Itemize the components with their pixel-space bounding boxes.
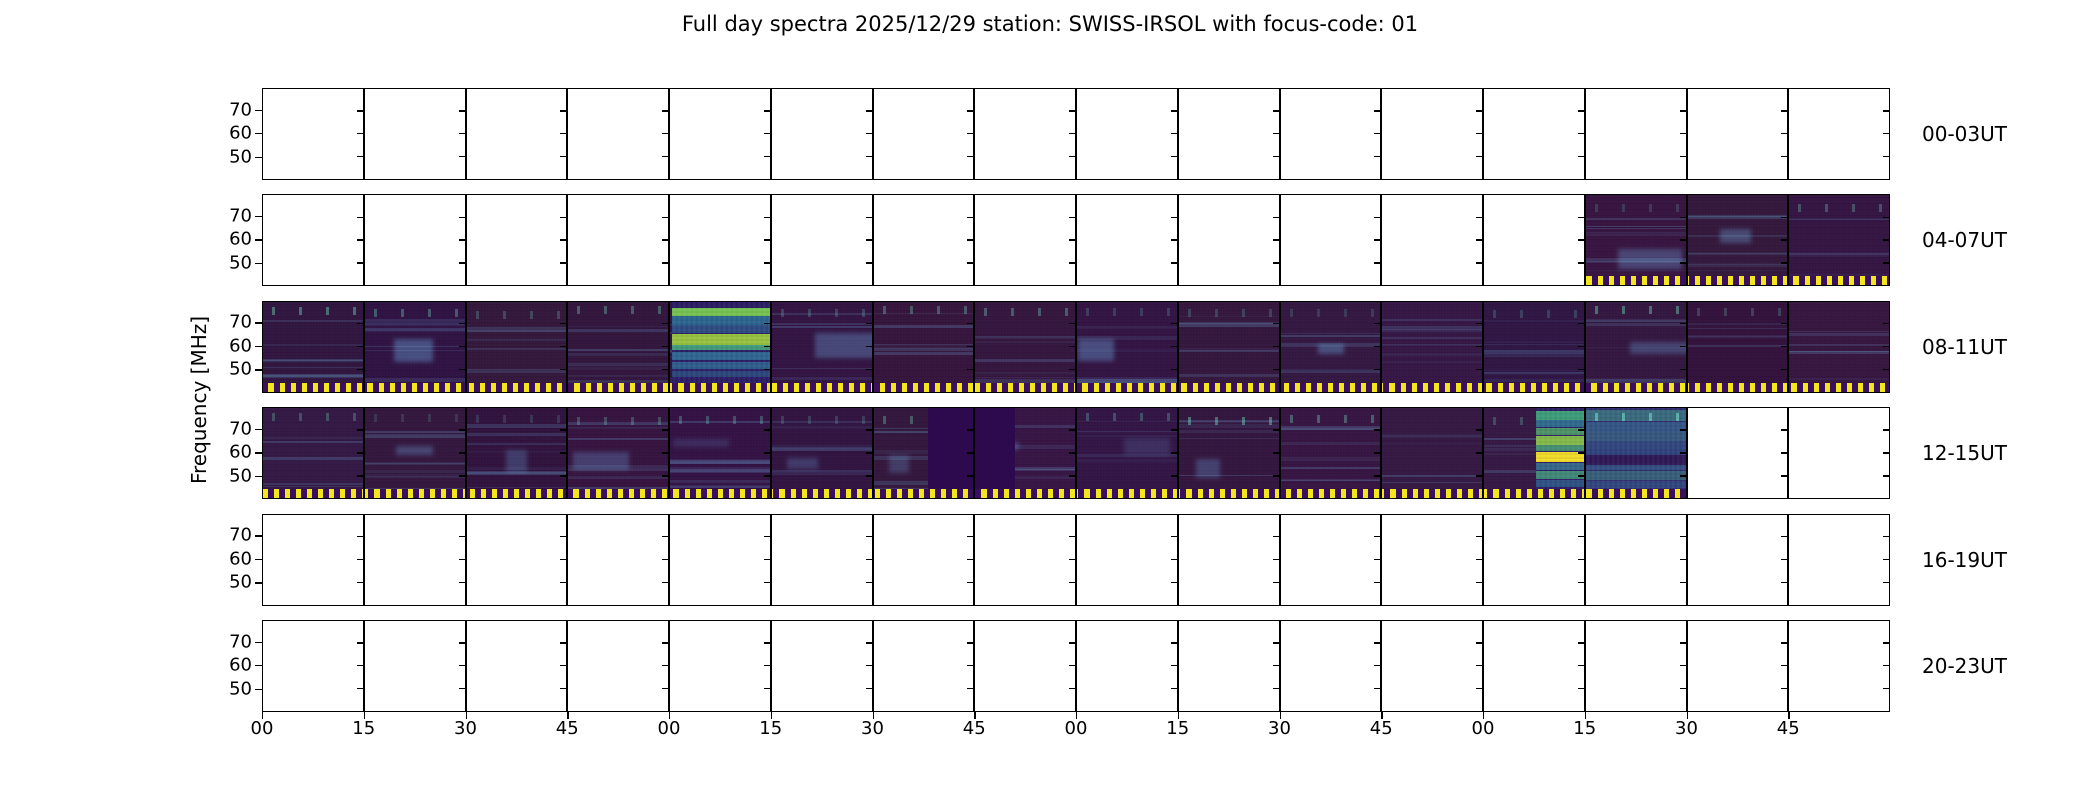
emission-band xyxy=(1281,442,1381,445)
rfi-speckles xyxy=(1586,204,1686,212)
emission-band xyxy=(365,463,465,465)
diffuse-emission-patch xyxy=(394,339,433,361)
spectrogram-panel xyxy=(466,407,568,499)
spectrogram-panel xyxy=(1788,620,1890,712)
y-tick-mark-inner xyxy=(1069,156,1075,157)
y-tick-mark-inner xyxy=(1883,217,1889,218)
y-tick-mark-inner xyxy=(1781,642,1787,643)
y-tick-mark-inner xyxy=(459,133,465,134)
y-tick-mark xyxy=(255,110,262,111)
y-tick-mark-inner xyxy=(357,429,363,430)
spectrogram-panel xyxy=(1076,620,1178,712)
emission-band xyxy=(568,476,668,479)
y-tick-mark-inner xyxy=(1883,452,1889,453)
spectrogram-panel xyxy=(1788,407,1890,499)
y-tick-mark-inner xyxy=(1171,239,1177,240)
panel-grid xyxy=(262,88,1890,712)
rfi-speckles xyxy=(1077,308,1177,316)
emission-band xyxy=(568,363,668,365)
spectrogram-image xyxy=(975,408,1075,498)
rfi-speckles xyxy=(568,306,668,314)
spectrogram-panel xyxy=(1076,194,1178,286)
y-tick-mark-inner xyxy=(459,559,465,560)
rfi-speckles xyxy=(1179,417,1279,425)
y-tick-mark-inner xyxy=(357,156,363,157)
x-tick-label: 15 xyxy=(1156,718,1200,739)
y-tick-mark-inner xyxy=(866,262,872,263)
spectrogram-image xyxy=(263,302,363,392)
y-tick-mark-inner xyxy=(967,642,973,643)
spectrogram-panel xyxy=(1178,88,1280,180)
y-tick-mark-inner xyxy=(866,475,872,476)
y-tick-mark-inner xyxy=(1273,559,1279,560)
y-tick-mark-inner xyxy=(1374,665,1380,666)
y-tick-mark-inner xyxy=(1883,133,1889,134)
interference-pattern xyxy=(1586,408,1686,489)
x-tick-label: 45 xyxy=(545,718,589,739)
spectrogram-panel xyxy=(873,407,975,499)
burst-scanline-texture xyxy=(672,302,770,383)
calibration-marker-strip xyxy=(1077,489,1177,498)
spectrogram-panel xyxy=(1788,88,1890,180)
y-tick-mark-inner xyxy=(1578,262,1584,263)
emission-band xyxy=(467,339,567,340)
y-tick-mark-inner xyxy=(967,559,973,560)
diffuse-emission-patch xyxy=(1630,342,1686,354)
spectrogram-image xyxy=(670,408,770,498)
spectrogram-image xyxy=(1382,408,1482,498)
calibration-marker-strip xyxy=(1484,489,1584,498)
y-tick-mark-inner xyxy=(967,369,973,370)
spectrogram-panel xyxy=(771,514,873,606)
emission-band xyxy=(263,375,363,378)
y-tick-mark-inner xyxy=(560,642,566,643)
emission-band xyxy=(263,486,363,488)
y-tick-mark-inner xyxy=(1578,688,1584,689)
x-tick-label: 00 xyxy=(240,718,284,739)
y-tick-mark-inner xyxy=(1781,536,1787,537)
emission-band xyxy=(1281,333,1381,334)
rfi-speckles xyxy=(772,309,872,317)
y-tick-mark-inner xyxy=(662,642,668,643)
y-tick-mark-inner xyxy=(1883,642,1889,643)
emission-band xyxy=(874,352,974,355)
y-tick-mark-inner xyxy=(662,217,668,218)
emission-band xyxy=(1077,459,1177,461)
diffuse-emission-patch xyxy=(396,446,432,455)
y-tick-mark-inner xyxy=(1476,133,1482,134)
spectrogram-panel xyxy=(1585,514,1687,606)
y-tick-mark-inner xyxy=(662,536,668,537)
y-tick-mark-inner xyxy=(967,110,973,111)
diffuse-emission-patch xyxy=(889,455,909,473)
y-tick-label: 50 xyxy=(206,146,252,167)
y-tick-mark-inner xyxy=(1171,346,1177,347)
y-tick-mark-inner xyxy=(662,452,668,453)
y-tick-label: 70 xyxy=(206,99,252,120)
emission-band xyxy=(365,474,465,476)
y-tick-mark-inner xyxy=(459,642,465,643)
spectrogram-panel xyxy=(1381,407,1483,499)
emission-band xyxy=(263,437,363,439)
y-tick-mark-inner xyxy=(1883,429,1889,430)
spectrogram-panel xyxy=(873,620,975,712)
y-tick-mark-inner xyxy=(1374,217,1380,218)
y-tick-mark-inner xyxy=(1476,323,1482,324)
y-tick-mark-inner xyxy=(1374,323,1380,324)
spectrogram-panel xyxy=(466,194,568,286)
y-tick-mark-inner xyxy=(1680,323,1686,324)
y-tick-mark-inner xyxy=(1781,323,1787,324)
y-tick-mark-inner xyxy=(560,262,566,263)
vertical-noise-texture xyxy=(263,302,363,392)
y-tick-mark-inner xyxy=(1883,475,1889,476)
spectrogram-panel xyxy=(1178,407,1280,499)
spectrogram-panel xyxy=(669,194,771,286)
y-tick-mark-inner xyxy=(560,156,566,157)
spectrogram-panel xyxy=(262,620,364,712)
y-tick-mark-inner xyxy=(1273,323,1279,324)
emission-band xyxy=(1484,370,1584,371)
y-tick-mark-inner xyxy=(1171,429,1177,430)
emission-band xyxy=(568,349,668,351)
y-tick-mark-inner xyxy=(967,688,973,689)
y-tick-mark-inner xyxy=(764,239,770,240)
spectrogram-image xyxy=(1281,302,1381,392)
calibration-marker-strip xyxy=(975,489,1075,498)
spectrogram-panel xyxy=(1381,194,1483,286)
y-tick-mark-inner xyxy=(357,239,363,240)
y-tick-mark xyxy=(255,642,262,643)
y-tick-mark-inner xyxy=(662,369,668,370)
y-tick-mark-inner xyxy=(1680,559,1686,560)
rfi-speckles xyxy=(365,309,465,317)
calibration-marker-strip xyxy=(1382,489,1482,498)
y-tick-mark-inner xyxy=(1883,582,1889,583)
calibration-marker-strip xyxy=(1077,383,1177,392)
y-tick-mark-inner xyxy=(866,642,872,643)
emission-band xyxy=(1179,475,1279,476)
y-tick-mark-inner xyxy=(764,642,770,643)
emission-band xyxy=(1382,435,1482,437)
y-tick-mark xyxy=(255,689,262,690)
calibration-marker-strip xyxy=(1789,276,1889,285)
emission-band xyxy=(568,329,668,331)
spectrogram-panel xyxy=(771,620,873,712)
calibration-marker-strip xyxy=(467,383,567,392)
y-tick-mark-inner xyxy=(1171,582,1177,583)
diffuse-emission-patch xyxy=(1196,459,1220,477)
y-tick-mark-inner xyxy=(1171,217,1177,218)
y-tick-mark-inner xyxy=(1883,665,1889,666)
calibration-marker-strip xyxy=(670,489,770,498)
y-tick-mark-inner xyxy=(967,133,973,134)
y-tick-mark-inner xyxy=(1069,239,1075,240)
calibration-marker-strip xyxy=(670,383,770,392)
emission-band xyxy=(1179,438,1279,439)
emission-band xyxy=(263,441,363,443)
spectrogram-panel xyxy=(974,301,1076,393)
spectrogram-panel xyxy=(262,88,364,180)
y-tick-mark-inner xyxy=(560,133,566,134)
spectrogram-panel xyxy=(974,88,1076,180)
y-tick-mark-inner xyxy=(1374,239,1380,240)
y-tick-mark-inner xyxy=(1781,262,1787,263)
page-title: Full day spectra 2025/12/29 station: SWI… xyxy=(0,12,2100,36)
y-tick-mark xyxy=(255,157,262,158)
y-tick-mark-inner xyxy=(866,536,872,537)
y-tick-label: 70 xyxy=(206,525,252,546)
spectrogram-panel xyxy=(1178,301,1280,393)
y-tick-mark-inner xyxy=(1374,110,1380,111)
y-tick-mark-inner xyxy=(1781,452,1787,453)
y-tick-mark-inner xyxy=(1680,346,1686,347)
y-tick-mark-inner xyxy=(866,429,872,430)
spectrogram-panel xyxy=(1483,194,1585,286)
emission-band xyxy=(772,377,872,380)
y-tick-mark-inner xyxy=(1578,110,1584,111)
radio-burst xyxy=(1536,408,1584,489)
diffuse-emission-patch xyxy=(815,333,873,358)
y-tick-mark-inner xyxy=(1374,156,1380,157)
emission-band xyxy=(1382,443,1482,444)
y-tick-mark-inner xyxy=(1680,262,1686,263)
y-tick-mark-inner xyxy=(459,688,465,689)
y-tick-mark-inner xyxy=(1578,582,1584,583)
y-tick-mark-inner xyxy=(560,536,566,537)
calibration-marker-strip xyxy=(365,489,465,498)
y-tick-mark-inner xyxy=(1273,262,1279,263)
emission-band xyxy=(263,457,363,460)
spectrogram-panel xyxy=(1076,301,1178,393)
spectrogram-panel xyxy=(1280,514,1382,606)
y-tick-mark-inner xyxy=(560,475,566,476)
y-tick-mark-inner xyxy=(560,582,566,583)
spectrogram-image xyxy=(365,302,465,392)
spectrogram-panel xyxy=(1585,194,1687,286)
y-tick-label: 60 xyxy=(206,229,252,250)
emission-band xyxy=(1382,475,1482,477)
y-tick-mark-inner xyxy=(1476,369,1482,370)
spectrogram-row-12-15ut xyxy=(262,407,1890,499)
y-tick-mark-inner xyxy=(459,665,465,666)
y-tick-mark-inner xyxy=(1069,536,1075,537)
emission-band xyxy=(1789,378,1889,380)
y-tick-mark-inner xyxy=(1069,110,1075,111)
spectrogram-panel xyxy=(873,88,975,180)
y-tick-label: 60 xyxy=(206,655,252,676)
emission-band xyxy=(1382,319,1482,321)
spectrogram-panel xyxy=(1788,514,1890,606)
x-tick-label: 45 xyxy=(1359,718,1403,739)
calibration-marker-strip xyxy=(1586,276,1686,285)
spectrogram-image xyxy=(1077,302,1177,392)
spectrogram-image xyxy=(568,302,668,392)
y-tick-mark-inner xyxy=(1069,475,1075,476)
y-tick-mark-inner xyxy=(1171,688,1177,689)
y-tick-mark-inner xyxy=(1883,156,1889,157)
y-tick-mark-inner xyxy=(357,536,363,537)
y-tick-mark-inner xyxy=(866,110,872,111)
diffuse-emission-patch xyxy=(1078,339,1114,361)
emission-band xyxy=(467,369,567,373)
calibration-marker-strip xyxy=(1179,383,1279,392)
spectrogram-image xyxy=(467,302,567,392)
y-tick-mark-inner xyxy=(1171,323,1177,324)
calibration-marker-strip xyxy=(1789,383,1889,392)
spectrogram-panel xyxy=(1788,194,1890,286)
spectrogram-panel xyxy=(669,88,771,180)
y-tick-mark-inner xyxy=(1273,346,1279,347)
y-tick-mark-inner xyxy=(1476,262,1482,263)
spectrogram-panel xyxy=(873,514,975,606)
y-tick-mark-inner xyxy=(1578,133,1584,134)
emission-band xyxy=(263,367,363,368)
spectrogram-panel xyxy=(1585,620,1687,712)
y-tick-mark-inner xyxy=(866,133,872,134)
signal-dropout-block xyxy=(975,408,1015,489)
emission-band xyxy=(1382,337,1482,339)
spectrogram-panel xyxy=(669,620,771,712)
y-tick-mark-inner xyxy=(967,346,973,347)
y-tick-mark-inner xyxy=(764,217,770,218)
y-tick-mark-inner xyxy=(1883,239,1889,240)
y-tick-mark-inner xyxy=(764,665,770,666)
y-tick-mark-inner xyxy=(764,452,770,453)
y-tick-mark xyxy=(255,665,262,666)
y-tick-mark-inner xyxy=(1069,323,1075,324)
emission-band xyxy=(1077,326,1177,328)
emission-band xyxy=(1179,430,1279,433)
y-tick-mark-inner xyxy=(357,262,363,263)
emission-band xyxy=(365,431,465,432)
spectrogram-panel xyxy=(669,407,771,499)
emission-band xyxy=(1789,255,1889,257)
y-tick-mark-inner xyxy=(1883,262,1889,263)
emission-band xyxy=(1789,331,1889,332)
emission-band xyxy=(1281,335,1381,337)
y-tick-label: 70 xyxy=(206,312,252,333)
spectrogram-image xyxy=(772,408,872,498)
emission-band xyxy=(1586,232,1686,236)
spectrogram-panel xyxy=(262,407,364,499)
calibration-marker-strip xyxy=(1484,383,1584,392)
spectrogram-panel xyxy=(1483,301,1585,393)
y-tick-mark-inner xyxy=(866,582,872,583)
spectrogram-panel xyxy=(669,301,771,393)
y-tick-mark-inner xyxy=(662,688,668,689)
spectrogram-panel xyxy=(1076,407,1178,499)
rfi-speckles xyxy=(263,307,363,315)
y-tick-mark-inner xyxy=(662,239,668,240)
y-tick-mark-inner xyxy=(1476,665,1482,666)
emission-band xyxy=(263,320,363,322)
y-tick-mark-inner xyxy=(1781,346,1787,347)
spectrogram-image xyxy=(1586,195,1686,285)
calibration-marker-strip xyxy=(1688,276,1788,285)
y-tick-mark-inner xyxy=(1476,536,1482,537)
spectrogram-panel xyxy=(1483,407,1585,499)
spectrogram-panel xyxy=(1381,620,1483,712)
emission-band xyxy=(1179,424,1279,428)
spectrogram-panel xyxy=(567,620,669,712)
y-tick-mark-inner xyxy=(1476,688,1482,689)
y-tick-mark-inner xyxy=(1374,262,1380,263)
spectrogram-panel xyxy=(567,88,669,180)
y-tick-mark-inner xyxy=(1273,582,1279,583)
emission-band xyxy=(1586,323,1686,326)
y-tick-mark-inner xyxy=(560,239,566,240)
y-tick-mark-inner xyxy=(662,429,668,430)
y-tick-mark-inner xyxy=(560,346,566,347)
emission-band xyxy=(874,325,974,328)
emission-band xyxy=(263,344,363,346)
y-tick-mark-inner xyxy=(1273,369,1279,370)
y-tick-mark-inner xyxy=(866,323,872,324)
y-tick-mark-inner xyxy=(1374,452,1380,453)
row-label-20-23ut: 20-23UT xyxy=(1922,654,2007,678)
calibration-marker-strip xyxy=(1281,383,1381,392)
y-tick-mark-inner xyxy=(764,110,770,111)
emission-band xyxy=(1484,350,1584,354)
y-tick-mark-inner xyxy=(764,582,770,583)
spectrogram-panel xyxy=(262,301,364,393)
rfi-speckles xyxy=(263,413,363,421)
emission-band xyxy=(1382,482,1482,483)
x-tick-label: 15 xyxy=(342,718,386,739)
y-tick-mark-inner xyxy=(459,323,465,324)
y-tick-mark-inner xyxy=(357,346,363,347)
emission-band xyxy=(365,435,465,438)
emission-band xyxy=(467,487,567,488)
spectrogram-panel xyxy=(1076,88,1178,180)
x-tick-label: 15 xyxy=(1563,718,1607,739)
y-tick-mark-inner xyxy=(1476,110,1482,111)
spectrogram-panel xyxy=(466,514,568,606)
rfi-speckles xyxy=(1077,413,1177,421)
calibration-marker-strip xyxy=(263,489,363,498)
y-tick-mark xyxy=(255,369,262,370)
y-tick-label: 50 xyxy=(206,359,252,380)
y-tick-mark-inner xyxy=(1578,217,1584,218)
vertical-noise-texture xyxy=(1382,302,1482,392)
calibration-marker-strip xyxy=(1586,383,1686,392)
x-tick-label: 15 xyxy=(749,718,793,739)
y-tick-mark-inner xyxy=(357,665,363,666)
rfi-speckles xyxy=(568,417,668,425)
y-tick-mark-inner xyxy=(1476,452,1482,453)
emission-band xyxy=(975,377,1075,378)
x-tick-label: 30 xyxy=(851,718,895,739)
y-tick-mark-inner xyxy=(1374,582,1380,583)
emission-band xyxy=(670,480,770,483)
emission-band xyxy=(1281,479,1381,482)
spectrogram-image xyxy=(1586,408,1686,498)
spectrogram-panel xyxy=(1687,514,1789,606)
y-tick-mark-inner xyxy=(866,217,872,218)
y-tick-mark-inner xyxy=(764,536,770,537)
rfi-speckles xyxy=(365,414,465,422)
emission-band xyxy=(1688,252,1788,255)
spectrogram-panel xyxy=(1687,194,1789,286)
spectrogram-panel xyxy=(1483,514,1585,606)
y-tick-mark-inner xyxy=(459,582,465,583)
spectrogram-panel xyxy=(1687,88,1789,180)
y-tick-mark-inner xyxy=(662,582,668,583)
calibration-marker-strip xyxy=(874,489,974,498)
y-tick-mark-inner xyxy=(1781,110,1787,111)
y-tick-mark-inner xyxy=(560,110,566,111)
